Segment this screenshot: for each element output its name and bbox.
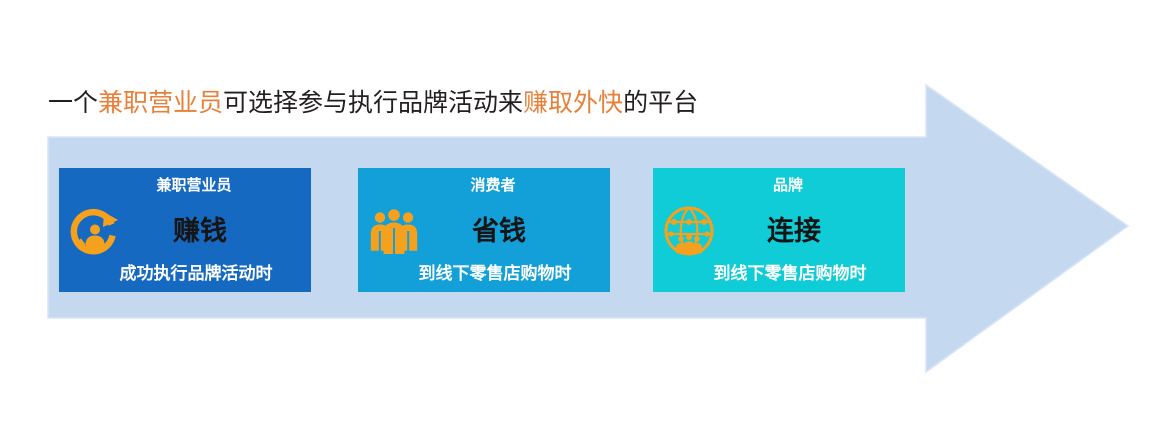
title-segment-0: 一个 <box>48 90 98 117</box>
three-people-group-icon <box>367 204 421 258</box>
card-3-header: 品牌 <box>653 176 905 196</box>
card-part-time-clerk[interactable]: 兼职营业员 赚钱 成功执行品牌活动时 <box>59 168 311 292</box>
title-segment-1-highlight: 兼职营业员 <box>98 90 223 117</box>
person-circular-arrow-icon <box>68 204 122 258</box>
title-segment-4: 的平台 <box>623 90 698 117</box>
card-3-footer: 到线下零售店购物时 <box>653 263 905 285</box>
card-2-footer: 到线下零售店购物时 <box>358 263 610 285</box>
card-2-header: 消费者 <box>358 176 610 196</box>
title-segment-3-highlight: 赚取外快 <box>523 90 623 117</box>
card-consumer[interactable]: 消费者 省钱 到线下零售店购物时 <box>358 168 610 292</box>
globe-network-people-icon <box>662 204 716 258</box>
title-segment-2: 可选择参与执行品牌活动来 <box>223 90 523 117</box>
card-brand[interactable]: 品牌 连接 到线下零售店购物时 <box>653 168 905 292</box>
page-title: 一个兼职营业员可选择参与执行品牌活动来赚取外快的平台 <box>48 88 698 120</box>
card-1-header: 兼职营业员 <box>59 176 311 196</box>
card-1-footer: 成功执行品牌活动时 <box>59 263 311 285</box>
slide-canvas: 一个兼职营业员可选择参与执行品牌活动来赚取外快的平台 兼职营业员 赚钱 成功执行… <box>0 0 1150 430</box>
